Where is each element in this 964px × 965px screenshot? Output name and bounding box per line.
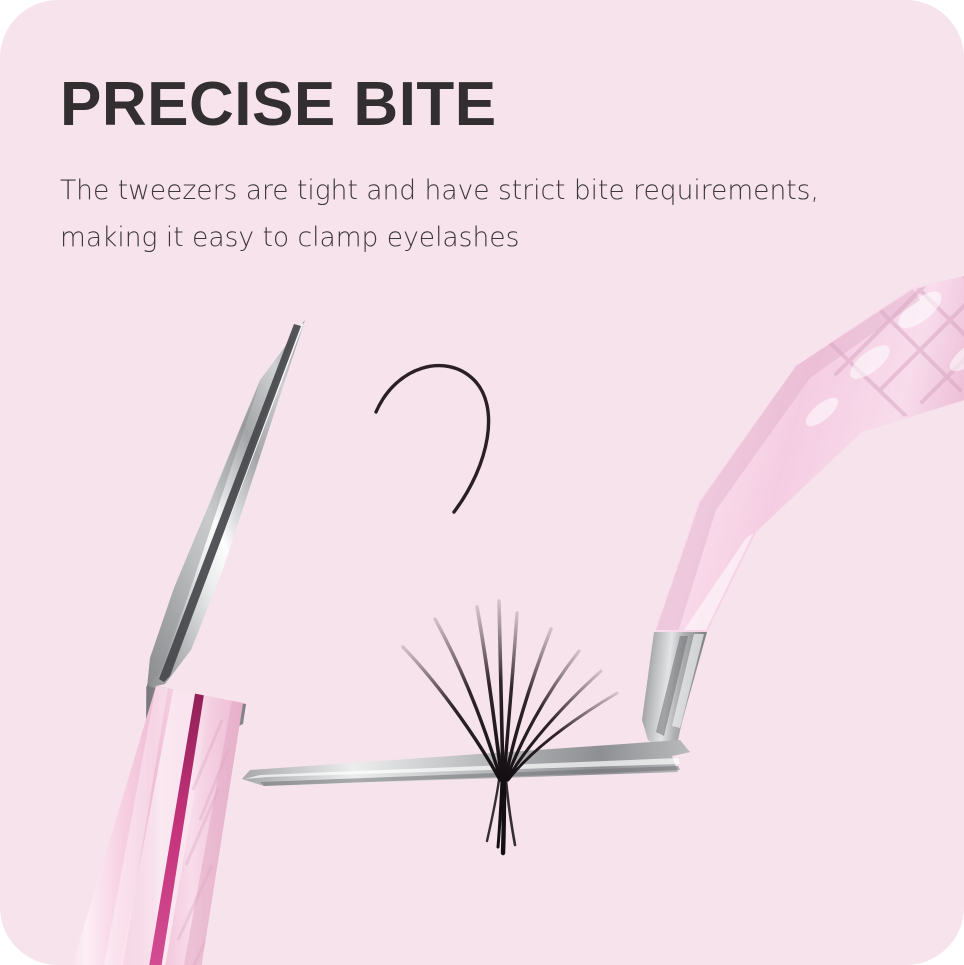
eyelash-strands [403,601,617,780]
single-lash-path [376,366,489,512]
subcopy-line-2: making it easy to clamp eyelashes [60,214,820,261]
text-block: PRECISE BITE The tweezers are tight and … [60,72,860,261]
subcopy-line-1: The tweezers are tight and have strict b… [60,167,820,214]
page-title: PRECISE BITE [60,72,860,137]
product-feature-card: PRECISE BITE The tweezers are tight and … [0,0,964,965]
eyelash-fan-cluster [395,595,645,855]
subcopy: The tweezers are tight and have strict b… [60,137,820,261]
left-tip-seam-line [159,324,301,682]
left-tip-shade [147,382,260,688]
eyelash-base-bundle [487,780,515,853]
single-curved-eyelash [370,340,550,540]
